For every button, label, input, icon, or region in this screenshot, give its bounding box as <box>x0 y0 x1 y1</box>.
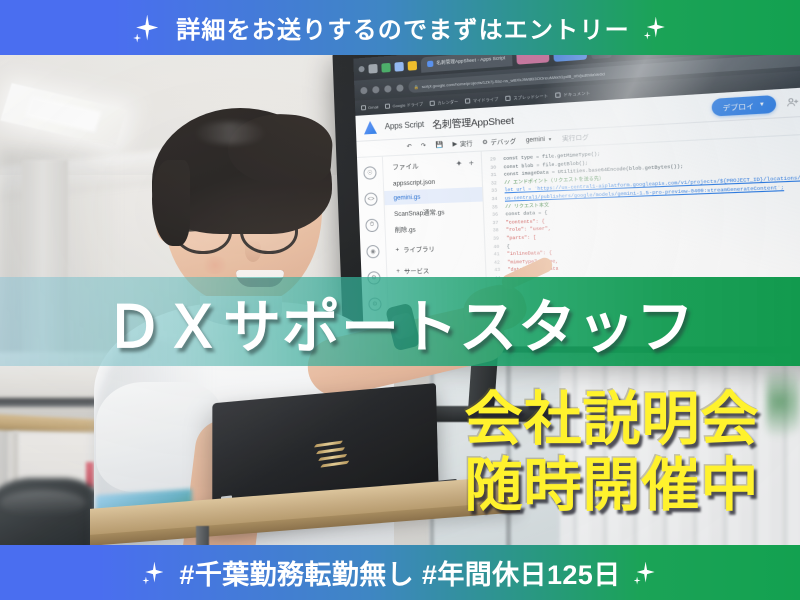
topbar-spacer <box>522 108 702 119</box>
add-person-icon[interactable] <box>786 96 800 109</box>
sparkle-icon <box>132 12 162 44</box>
sparkle-icon <box>634 560 658 586</box>
bookmark-icon <box>506 96 512 102</box>
tab-favicon <box>368 63 377 73</box>
bookmark-item[interactable]: ドキュメント <box>556 90 591 99</box>
active-tab-favicon <box>427 61 433 68</box>
top-banner-text: 詳細をお送りするのでまずはエントリー <box>176 10 630 45</box>
sparkle-icon <box>142 560 166 586</box>
deploy-button[interactable]: デプロイ ▼ <box>711 94 776 116</box>
lock-icon: 🔒 <box>414 84 419 89</box>
bookmark-icon <box>556 92 562 98</box>
seminar-highlight: 会社説明会 随時開催中 <box>438 385 786 520</box>
recruitment-poster: 名刺管理AppSheet - Apps Script 🔒 <box>0 0 800 600</box>
chevron-down-icon: ▼ <box>548 136 553 142</box>
bottom-banner: #千葉勤務転勤無し #年間休日125日 <box>0 545 800 600</box>
hp-logo-icon <box>315 440 349 471</box>
bookmark-item[interactable]: スプレッドシート <box>506 93 549 102</box>
function-name: gemini <box>526 136 546 143</box>
tab-favicon-drive <box>394 61 403 71</box>
top-banner: 詳細をお送りするのでまずはエントリー <box>0 0 800 55</box>
bookmark-label: スプレッドシート <box>513 93 548 102</box>
cheek <box>200 256 230 274</box>
execution-log-label: 実行ログ <box>562 132 589 143</box>
chevron-down-icon: ▼ <box>759 101 765 108</box>
bottom-banner-text: #千葉勤務転勤無し #年間休日125日 <box>179 553 620 592</box>
deploy-label: デプロイ <box>722 99 754 112</box>
tab-favicon-keep <box>408 60 418 70</box>
hair-side <box>152 160 190 246</box>
hair-shine <box>194 122 266 144</box>
bookmark-label: ドキュメント <box>563 90 590 98</box>
sparkle-icon <box>644 15 668 41</box>
seminar-line-1: 会社説明会 <box>464 387 759 453</box>
tab-favicon-sheets <box>381 62 390 72</box>
debug-label: デバッグ <box>490 136 516 147</box>
active-tab-title: 名刺管理AppSheet - Apps Script <box>436 55 505 66</box>
window-dot <box>358 66 364 72</box>
seminar-line-2: 随時開催中 <box>464 453 759 519</box>
execution-log-button[interactable]: 実行ログ <box>562 132 589 143</box>
function-select[interactable]: gemini ▼ <box>526 136 553 144</box>
page-title: ＤＸサポートスタッフ <box>0 277 800 366</box>
